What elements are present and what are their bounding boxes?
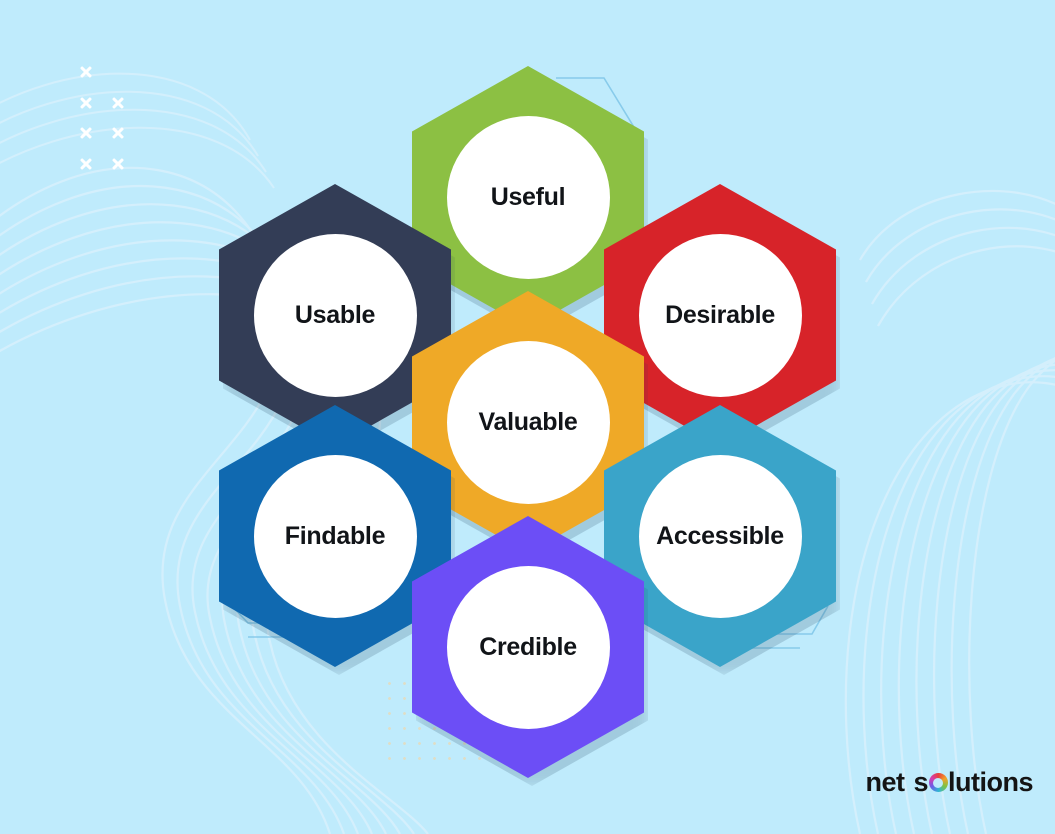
logo-word-net: net <box>865 767 904 798</box>
hex-label-credible: Credible <box>479 633 577 662</box>
hex-disc-accessible: Accessible <box>639 455 802 618</box>
hex-label-valuable: Valuable <box>478 408 577 437</box>
logo-word-solutions: s lutions <box>913 767 1033 798</box>
hexagon-cluster: UsefulUsableDesirableValuableFindableAcc… <box>0 0 1055 834</box>
hex-label-findable: Findable <box>285 522 385 551</box>
hex-disc-desirable: Desirable <box>639 234 802 397</box>
rainbow-ring-icon <box>929 773 948 792</box>
logo-lutions: lutions <box>948 767 1033 798</box>
hex-disc-valuable: Valuable <box>447 341 610 504</box>
hex-disc-usable: Usable <box>254 234 417 397</box>
hex-label-accessible: Accessible <box>656 522 784 551</box>
logo-s: s <box>913 767 928 798</box>
hex-disc-credible: Credible <box>447 566 610 729</box>
hex-label-usable: Usable <box>295 301 375 330</box>
hex-cell-credible[interactable]: Credible <box>412 516 644 778</box>
net-solutions-logo: net s lutions <box>865 767 1033 798</box>
hex-label-desirable: Desirable <box>665 301 775 330</box>
hex-label-useful: Useful <box>491 183 566 212</box>
hex-disc-useful: Useful <box>447 116 610 279</box>
hex-disc-findable: Findable <box>254 455 417 618</box>
diagram-canvas: UsefulUsableDesirableValuableFindableAcc… <box>0 0 1055 834</box>
